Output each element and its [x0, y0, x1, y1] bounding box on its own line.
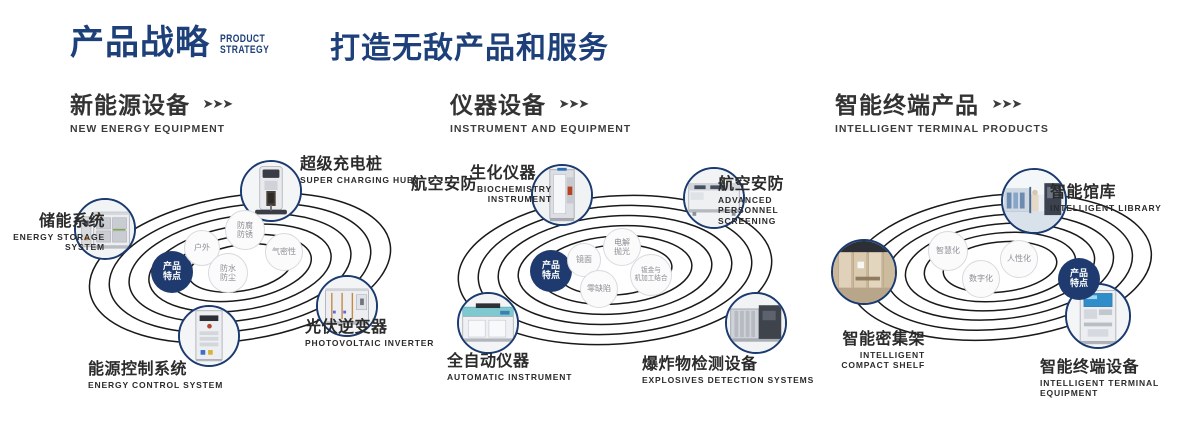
label-automatic-instrument: 全自动仪器 AUTOMATIC INSTRUMENT	[447, 352, 572, 382]
headline: 打造无敌产品和服务	[330, 34, 609, 64]
label-intelligent-terminal-equipment: 智能终端设备 INTELLIGENT TERMINAL EQUIPMENT	[1040, 358, 1200, 399]
label-intelligent-library: 智能馆库 INTELLIGENT LIBRARY	[1050, 183, 1162, 213]
label-advanced-personnel-screening: 航空安防 ADVANCED PERSONNEL SCREENING	[718, 175, 818, 226]
label-en: SUPER CHARGING HUB	[300, 175, 414, 186]
label-aviation-security-left: 航空安防	[411, 175, 477, 193]
feature-bubble-anticorrosion: 防腐 防锈	[225, 210, 265, 250]
brand-header: 产品战略 PRODUCT STRATEGY	[70, 26, 283, 60]
section-title-cn-new-energy: 新能源设备	[70, 94, 190, 118]
label-cn: 全自动仪器	[447, 352, 572, 370]
brand-title-en-line2: STRATEGY	[220, 45, 269, 57]
core-bubble-line2: 特点	[163, 272, 181, 282]
section-header-intelligent-terminal: 智能终端产品 ➤➤➤ INTELLIGENT TERMINAL PRODUCTS	[835, 94, 1049, 135]
core-bubble-line2: 特点	[1070, 279, 1088, 289]
label-en: INTELLIGENT LIBRARY	[1050, 203, 1162, 214]
label-en: ENERGY CONTROL SYSTEM	[88, 380, 223, 391]
section-header-instrument: 仪器设备 ➤➤➤ INSTRUMENT AND EQUIPMENT	[450, 94, 631, 135]
feature-bubble-sheetmetal-machining: 钣金与 机加工结合	[630, 254, 672, 296]
feature-bubble-waterproof: 防水 防尘	[208, 253, 248, 293]
node-explosives-detection-systems[interactable]	[725, 292, 787, 354]
label-en: EXPLOSIVES DETECTION SYSTEMS	[642, 375, 814, 386]
label-cn: 超级充电桩	[300, 155, 414, 173]
core-bubble-line1: 产品	[163, 262, 181, 272]
feature-bubble-humanized: 人性化	[1000, 240, 1038, 278]
core-bubble-instrument: 产品 特点	[530, 250, 572, 292]
label-cn: 生化仪器	[470, 164, 552, 182]
feature-bubble-digital: 数字化	[962, 260, 1000, 298]
label-en: INTELLIGENT COMPACT SHELF	[810, 350, 925, 371]
section-title-cn-intelligent-terminal: 智能终端产品	[835, 94, 979, 118]
feature-bubble-airtight: 气密性	[265, 233, 303, 271]
label-energy-storage-system: 储能系统 ENERGY STORAGE SYSTEM	[0, 212, 105, 253]
label-super-charging-hub: 超级充电桩 SUPER CHARGING HUB	[300, 155, 414, 185]
label-cn: 爆炸物检测设备	[642, 355, 814, 373]
node-automatic-instrument[interactable]	[457, 292, 519, 354]
node-intelligent-compact-shelf[interactable]	[831, 239, 897, 305]
chevrons-right-icon: ➤➤➤	[558, 97, 588, 112]
label-cn: 航空安防	[411, 175, 477, 193]
label-en: ADVANCED PERSONNEL SCREENING	[718, 195, 818, 227]
label-biochemistry-instrument: 生化仪器 BIOCHEMISTRY INSTRUMENT	[470, 164, 552, 205]
label-cn: 光伏逆变器	[305, 318, 434, 336]
brand-title-en: PRODUCT STRATEGY	[220, 34, 269, 57]
label-cn: 智能馆库	[1050, 183, 1162, 201]
poster-canvas: 产品战略 PRODUCT STRATEGY 打造无敌产品和服务 新能源设备 ➤➤…	[0, 0, 1200, 422]
section-title-en-new-energy: NEW ENERGY EQUIPMENT	[70, 123, 232, 135]
label-energy-control-system: 能源控制系统 ENERGY CONTROL SYSTEM	[88, 360, 223, 390]
label-intelligent-compact-shelf: 智能密集架 INTELLIGENT COMPACT SHELF	[810, 330, 925, 371]
core-bubble-line1: 产品	[542, 261, 560, 271]
photo-automatic-instrument	[459, 294, 517, 352]
label-photovoltaic-inverter: 光伏逆变器 PHOTOVOLTAIC INVERTER	[305, 318, 434, 348]
label-en: INTELLIGENT TERMINAL EQUIPMENT	[1040, 378, 1200, 399]
feature-bubble-zero-defect: 零缺陷	[580, 270, 618, 308]
node-energy-control-system[interactable]	[178, 305, 240, 367]
core-bubble-line1: 产品	[1070, 269, 1088, 279]
label-en: PHOTOVOLTAIC INVERTER	[305, 338, 434, 349]
core-bubble-line2: 特点	[542, 271, 560, 281]
feature-bubble-smart: 智慧化	[928, 231, 968, 271]
label-cn: 储能系统	[0, 212, 105, 230]
brand-title-cn: 产品战略	[70, 26, 210, 60]
photo-energy-control-system	[180, 307, 238, 365]
label-cn: 能源控制系统	[88, 360, 223, 378]
label-cn: 智能密集架	[810, 330, 925, 348]
chevrons-right-icon: ➤➤➤	[202, 97, 232, 112]
photo-intelligent-compact-shelf	[833, 241, 895, 303]
brand-title-en-line1: PRODUCT	[220, 34, 269, 46]
core-bubble-intelligent-terminal: 产品 特点	[1058, 258, 1100, 300]
section-title-cn-instrument: 仪器设备	[450, 94, 546, 118]
section-header-new-energy: 新能源设备 ➤➤➤ NEW ENERGY EQUIPMENT	[70, 94, 232, 135]
label-en: ENERGY STORAGE SYSTEM	[0, 232, 105, 253]
photo-explosives-detection-systems	[727, 294, 785, 352]
label-explosives-detection-systems: 爆炸物检测设备 EXPLOSIVES DETECTION SYSTEMS	[642, 355, 814, 385]
section-title-en-intelligent-terminal: INTELLIGENT TERMINAL PRODUCTS	[835, 123, 1049, 135]
label-cn: 航空安防	[718, 175, 818, 193]
label-en: AUTOMATIC INSTRUMENT	[447, 372, 572, 383]
section-title-en-instrument: INSTRUMENT AND EQUIPMENT	[450, 123, 631, 135]
chevrons-right-icon: ➤➤➤	[991, 97, 1021, 112]
label-en: BIOCHEMISTRY INSTRUMENT	[470, 184, 552, 205]
label-cn: 智能终端设备	[1040, 358, 1200, 376]
